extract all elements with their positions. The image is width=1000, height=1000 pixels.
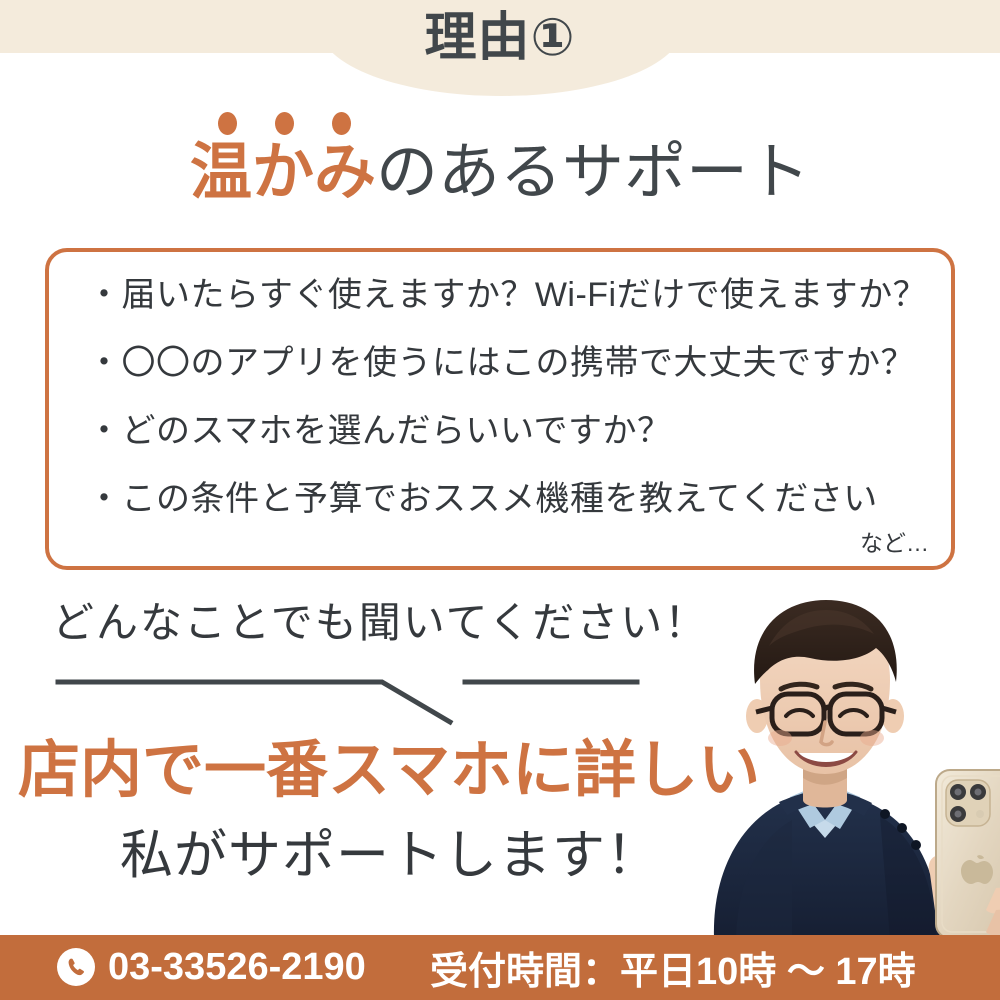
question-list: ・届いたらすぐ使えますか？Wi-Fiだけで使えますか？ ・〇〇のアプリを使うには…	[87, 278, 937, 516]
contact-footer-bar: 03-33526-2190 受付時間：平日10時 〜 17時	[0, 935, 1000, 1000]
etc-label: など…	[860, 524, 929, 558]
footer-phone-number[interactable]: 03-33526-2190	[108, 935, 366, 1000]
emphasis-dot-1	[218, 112, 237, 135]
page-title-rest: のあるサポート	[376, 138, 810, 207]
speech-bubble-tail-icon	[40, 660, 660, 730]
page-title-highlight: 温かみ	[190, 138, 376, 207]
list-item: ・どのスマホを選んだらいいですか？	[87, 414, 937, 448]
list-item: ・届いたらすぐ使えますか？Wi-Fiだけで使えますか？	[87, 278, 937, 312]
reason-badge-label: 理由①	[0, 12, 1000, 64]
phone-handset-icon	[57, 948, 95, 986]
footer-business-hours: 受付時間：平日10時 〜 17時	[430, 935, 916, 1000]
list-item: ・〇〇のアプリを使うにはこの携帯で大丈夫ですか？	[87, 346, 937, 380]
claim-headline-gray: 私がサポートします！	[120, 828, 660, 884]
emphasis-dot-3	[332, 112, 351, 135]
emphasis-dot-2	[275, 112, 294, 135]
page-title: 温かみのあるサポート	[0, 140, 1000, 205]
ask-anything-text: どんなことでも聞いてください！	[52, 600, 708, 646]
poster-root: 理由① 温かみのあるサポート ・届いたらすぐ使えますか？Wi-Fiだけで使えます…	[0, 0, 1000, 1000]
emphasis-dots	[218, 112, 418, 138]
claim-headline-orange: 店内で一番スマホに詳しい	[18, 738, 760, 803]
question-box: ・届いたらすぐ使えますか？Wi-Fiだけで使えますか？ ・〇〇のアプリを使うには…	[45, 248, 955, 570]
list-item: ・この条件と予算でおススメ機種を教えてください	[87, 482, 937, 516]
